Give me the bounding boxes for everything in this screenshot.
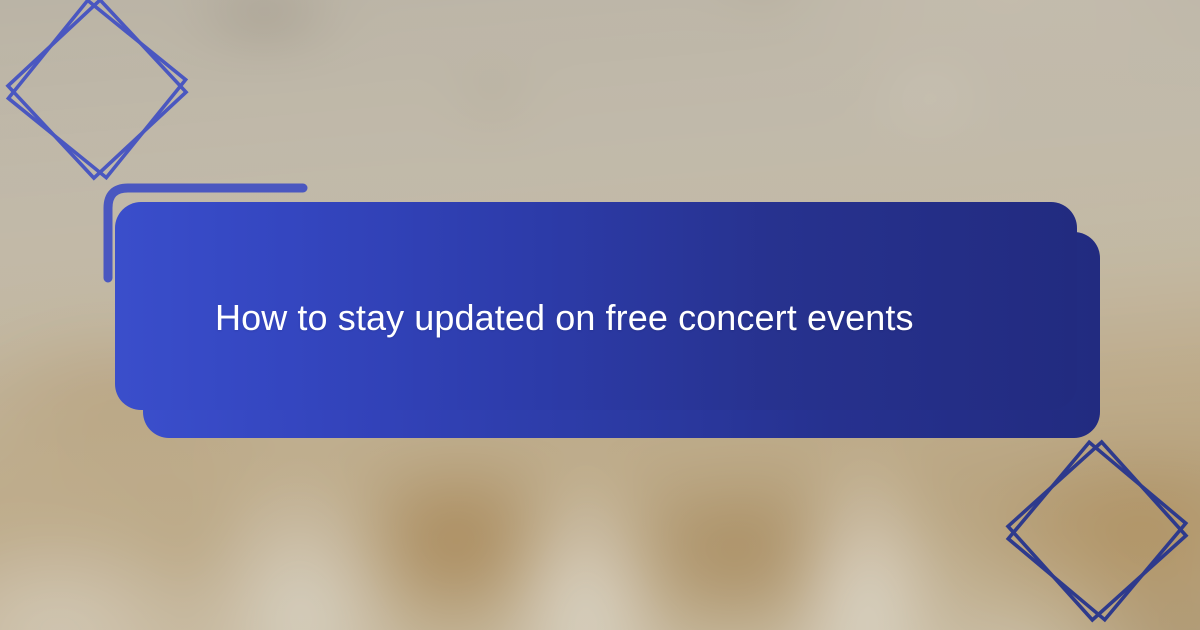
banner-canvas: How to stay updated on free concert even… [0, 0, 1200, 630]
page-title: How to stay updated on free concert even… [215, 296, 914, 339]
title-card: How to stay updated on free concert even… [115, 202, 1077, 410]
